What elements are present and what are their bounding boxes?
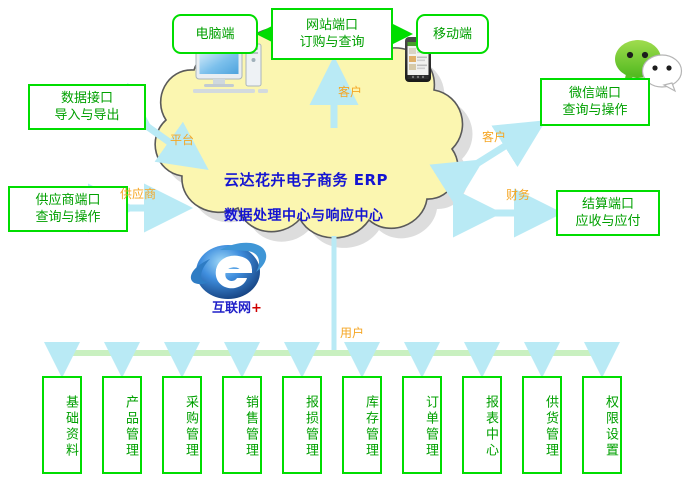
box-wechat-portal-line1: 微信端口 — [569, 85, 621, 102]
box-supplier-portal-line1: 供应商端口 — [35, 192, 100, 209]
internet-explorer-logo-icon — [191, 243, 266, 299]
module-box-6[interactable]: 库存管理 — [342, 376, 382, 474]
box-wechat-portal[interactable]: 微信端口 查询与操作 — [540, 78, 650, 126]
module-box-1[interactable]: 基础资料 — [42, 376, 82, 474]
box-website-portal-line2: 订购与查询 — [299, 34, 364, 51]
internet-plus-text: 互联网 — [212, 301, 251, 316]
internet-plus-sign: + — [251, 301, 262, 316]
cloud-title-line1: 云达花卉电子商务 ERP — [224, 169, 388, 190]
box-data-interface[interactable]: 数据接口 导入与导出 — [28, 84, 146, 130]
box-website-portal-line1: 网站端口 — [306, 17, 358, 34]
edge-label-customer-right: 客户 — [482, 128, 506, 145]
module-box-label: 库存管理 — [360, 395, 380, 459]
module-box-label: 产品管理 — [120, 395, 140, 459]
module-distribution-bar — [62, 350, 607, 356]
edge-label-supplier: 供应商 — [120, 185, 156, 202]
erp-architecture-diagram: 电脑端 网站端口 订购与查询 移动端 数据接口 导入与导出 供应商端口 查询与操… — [0, 0, 688, 484]
module-box-4[interactable]: 销售管理 — [222, 376, 262, 474]
box-settlement-portal-line2: 应收与应付 — [575, 213, 640, 230]
edge-label-finance: 财务 — [506, 186, 530, 203]
box-mobile-client-line1: 移动端 — [433, 26, 472, 43]
box-website-portal[interactable]: 网站端口 订购与查询 — [271, 8, 393, 60]
module-box-8[interactable]: 报表中心 — [462, 376, 502, 474]
module-box-label: 采购管理 — [180, 395, 200, 459]
module-box-label: 权限设置 — [600, 395, 620, 459]
module-box-label: 基础资料 — [60, 395, 80, 459]
box-mobile-client[interactable]: 移动端 — [416, 14, 489, 54]
box-data-interface-line1: 数据接口 — [61, 90, 113, 107]
box-data-interface-line2: 导入与导出 — [54, 107, 119, 124]
module-box-5[interactable]: 报损管理 — [282, 376, 322, 474]
box-supplier-portal[interactable]: 供应商端口 查询与操作 — [8, 186, 128, 232]
module-box-label: 订单管理 — [420, 395, 440, 459]
module-box-label: 销售管理 — [240, 395, 260, 459]
module-box-9[interactable]: 供货管理 — [522, 376, 562, 474]
box-pc-client-line1: 电脑端 — [195, 26, 234, 43]
box-settlement-portal[interactable]: 结算端口 应收与应付 — [556, 190, 660, 236]
module-box-2[interactable]: 产品管理 — [102, 376, 142, 474]
edge-label-platform: 平台 — [170, 131, 194, 148]
edge-label-user: 用户 — [340, 324, 364, 341]
cloud-title-line2: 数据处理中心与响应中心 — [224, 205, 384, 225]
module-box-10[interactable]: 权限设置 — [582, 376, 622, 474]
module-box-label: 报表中心 — [480, 395, 500, 459]
edge-label-customer-top: 客户 — [338, 83, 362, 100]
internet-plus-label: 互联网+ — [212, 297, 262, 316]
module-box-3[interactable]: 采购管理 — [162, 376, 202, 474]
box-settlement-portal-line1: 结算端口 — [582, 196, 634, 213]
module-box-label: 供货管理 — [540, 395, 560, 459]
module-box-7[interactable]: 订单管理 — [402, 376, 442, 474]
box-wechat-portal-line2: 查询与操作 — [562, 102, 627, 119]
module-box-label: 报损管理 — [300, 395, 320, 459]
box-supplier-portal-line2: 查询与操作 — [35, 209, 100, 226]
box-pc-client[interactable]: 电脑端 — [172, 14, 258, 54]
